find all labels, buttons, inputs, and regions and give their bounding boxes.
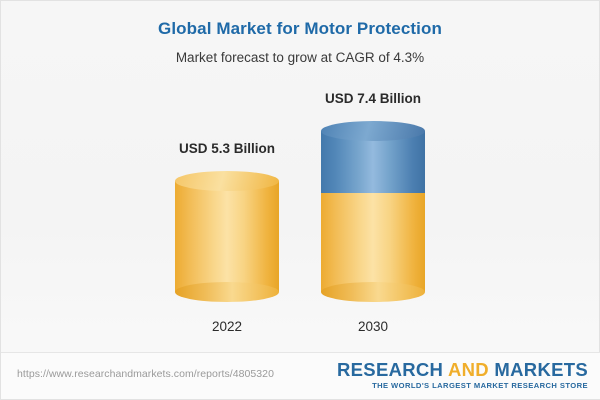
source-url[interactable]: https://www.researchandmarkets.com/repor… <box>17 368 274 380</box>
bar-group-2022: USD 5.3 Billion <box>161 141 293 302</box>
cylinder-top-cap-2022 <box>175 171 279 191</box>
cylinder-2030 <box>321 121 425 302</box>
cylinder-bottom-cap-2022 <box>175 282 279 302</box>
logo-word-research: RESEARCH <box>337 359 443 380</box>
cylinder-body-base-2022 <box>175 181 279 292</box>
x-axis-label-2022: 2022 <box>161 319 293 334</box>
chart-footer: https://www.researchandmarkets.com/repor… <box>1 352 600 399</box>
logo-word-markets: MARKETS <box>494 359 588 380</box>
chart-plot-area: USD 5.3 Billion USD 7.4 Billion 2022 203… <box>1 1 600 353</box>
cylinder-top-cap-2030 <box>321 121 425 141</box>
cylinder-body-base-2030 <box>321 191 425 292</box>
infographic-card: Global Market for Motor Protection Marke… <box>0 0 600 400</box>
cylinder-2022 <box>175 171 279 302</box>
logo-wordmark: RESEARCH AND MARKETS <box>337 359 588 380</box>
research-and-markets-logo[interactable]: RESEARCH AND MARKETS THE WORLD'S LARGEST… <box>337 359 588 391</box>
logo-word-and: AND <box>448 359 489 380</box>
cylinder-bottom-cap-2030 <box>321 282 425 302</box>
x-axis-label-2030: 2030 <box>307 319 439 334</box>
bar-value-label-2030: USD 7.4 Billion <box>307 91 439 107</box>
bar-value-label-2022: USD 5.3 Billion <box>161 141 293 157</box>
bar-group-2030: USD 7.4 Billion <box>307 91 439 302</box>
logo-tagline: THE WORLD'S LARGEST MARKET RESEARCH STOR… <box>337 381 588 391</box>
